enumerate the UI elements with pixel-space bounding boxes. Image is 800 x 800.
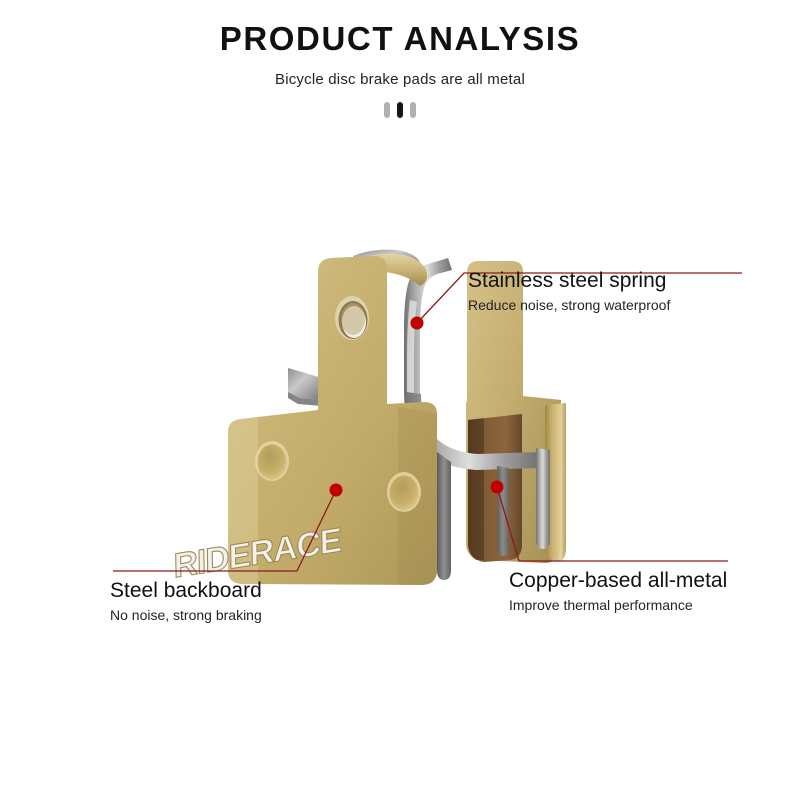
brake-pads-illustration: RIDERACE RIDERACE <box>0 0 800 800</box>
leader-line-copper <box>497 487 728 561</box>
spring-arm-left <box>288 368 322 400</box>
brand-logo-outline: RIDERACE <box>173 521 341 586</box>
callout-steel-backboard: Steel backboard No noise, strong braking <box>110 578 262 625</box>
brand-logo-text: RIDERACE <box>173 521 341 586</box>
copper-friction-layer <box>468 414 522 562</box>
pad-dimple-right <box>387 472 421 512</box>
leader-line-backboard <box>113 490 336 571</box>
leader-dot-backboard <box>330 484 343 497</box>
brand-logo: RIDERACE RIDERACE <box>168 521 347 586</box>
page-title: PRODUCT ANALYSIS <box>0 0 800 59</box>
callout-title-spring: Stainless steel spring <box>468 268 670 293</box>
callout-subtitle-backboard: No noise, strong braking <box>110 603 262 625</box>
divider-dot-right <box>410 102 416 118</box>
page-header: PRODUCT ANALYSIS Bicycle disc brake pads… <box>0 0 800 118</box>
callout-stainless-steel-spring: Stainless steel spring Reduce noise, str… <box>468 268 670 315</box>
callout-subtitle-copper: Improve thermal performance <box>509 593 727 615</box>
callout-copper-based-all-metal: Copper-based all-metal Improve thermal p… <box>509 568 727 615</box>
front-brake-pad: RIDERACE RIDERACE <box>168 256 437 586</box>
page-subtitle: Bicycle disc brake pads are all metal <box>0 59 800 88</box>
divider-dot-left <box>384 102 390 118</box>
callout-title-backboard: Steel backboard <box>110 578 262 603</box>
spring-top-cap <box>353 250 420 268</box>
product-figure: RIDERACE RIDERACE <box>0 0 800 800</box>
rear-plate-edge-highlight <box>545 403 566 562</box>
pad-dimple-left <box>255 441 289 481</box>
callout-subtitle-spring: Reduce noise, strong waterproof <box>468 293 670 315</box>
callout-title-copper: Copper-based all-metal <box>509 568 727 593</box>
mounting-pin-hole <box>335 296 369 340</box>
callout-leader-dots <box>330 317 504 497</box>
callout-leader-lines <box>113 273 742 571</box>
leader-dot-spring <box>411 317 424 330</box>
front-backing-plate <box>228 256 437 585</box>
divider-dot-center <box>397 102 403 118</box>
rear-pad-top-cap <box>352 254 427 286</box>
divider-dots <box>0 88 800 118</box>
leader-dot-copper <box>491 481 504 494</box>
